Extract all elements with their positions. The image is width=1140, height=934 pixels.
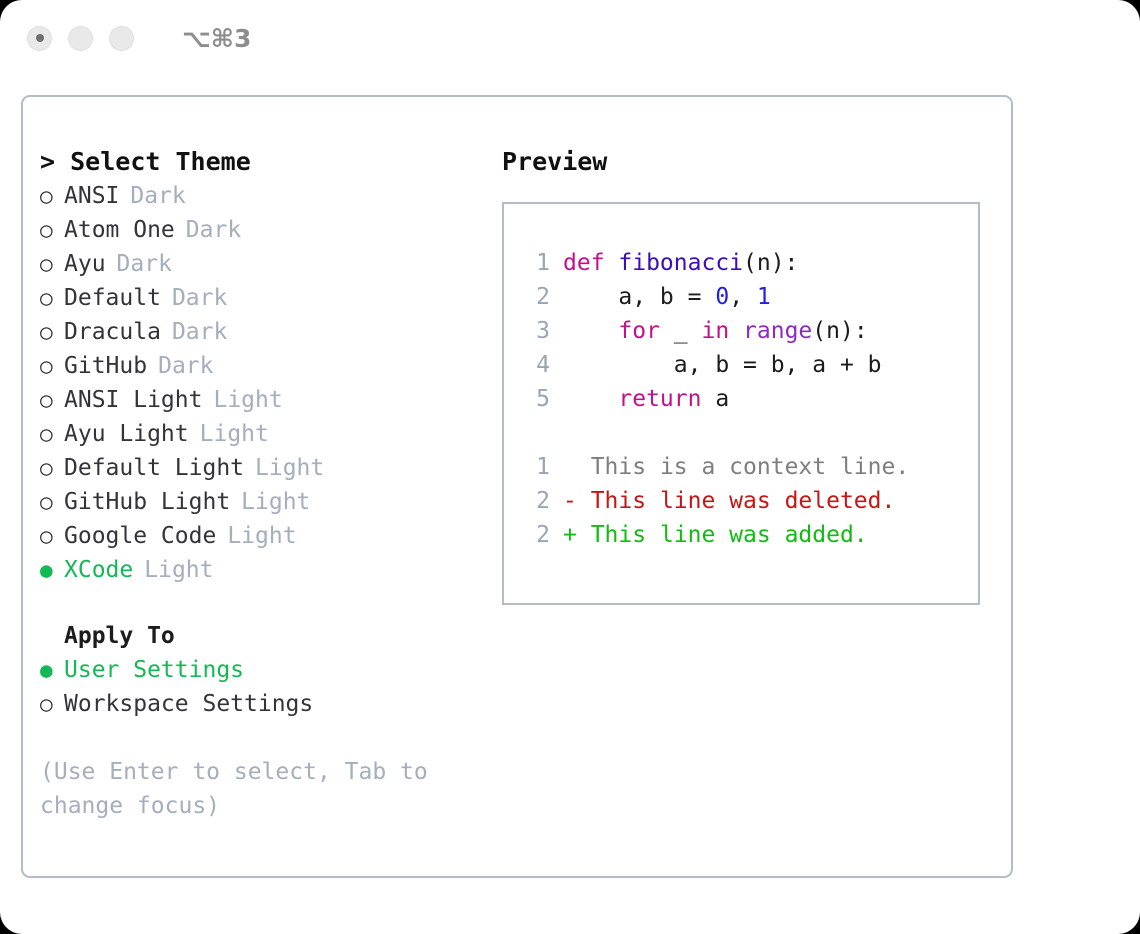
apply-to-option-workspace-settings[interactable]: ○Workspace Settings: [40, 687, 470, 721]
code-token-kw: def: [563, 250, 618, 276]
code-token-kw: for: [618, 318, 660, 344]
theme-option-xcode[interactable]: ●XCodeLight: [40, 553, 470, 587]
code-line-number: 5: [520, 382, 550, 416]
theme-option-label: Ayu: [64, 247, 106, 281]
diff-line-number: 2: [520, 518, 550, 552]
theme-option-label: Default: [64, 281, 161, 315]
code-line: 1def fibonacci(n):: [520, 246, 978, 280]
code-line-number: 3: [520, 314, 550, 348]
radio-unselected-icon: ○: [40, 687, 64, 721]
theme-option-label: ANSI: [64, 179, 119, 213]
theme-option-tag: Dark: [172, 281, 227, 315]
theme-option-label: Atom One: [64, 213, 175, 247]
code-line-content: for _ in range(n):: [563, 314, 868, 348]
theme-option-tag: Dark: [158, 349, 213, 383]
preview-column: Preview 1def fibonacci(n):2 a, b = 0, 13…: [502, 145, 1002, 605]
code-token-kw: return: [618, 386, 701, 412]
theme-option-default-light[interactable]: ○Default LightLight: [40, 451, 470, 485]
keyboard-shortcut-label: ⌥⌘3: [182, 24, 251, 53]
select-theme-heading-label: Select Theme: [70, 147, 251, 176]
apply-to-option-user-settings[interactable]: ●User Settings: [40, 653, 470, 687]
code-diff-separator: [520, 416, 978, 450]
code-token-plain: ,: [729, 284, 757, 310]
code-line: 2 a, b = 0, 1: [520, 280, 978, 314]
radio-unselected-icon: ○: [40, 485, 64, 519]
theme-list: ○ANSIDark○Atom OneDark○AyuDark○DefaultDa…: [40, 179, 470, 587]
theme-option-tag: Light: [255, 451, 324, 485]
title-bar: ⌥⌘3: [0, 0, 1140, 76]
code-line-content: a, b = 0, 1: [563, 280, 771, 314]
code-token-bi: range: [743, 318, 812, 344]
theme-option-label: Google Code: [64, 519, 216, 553]
prompt-caret-icon: >: [40, 147, 55, 176]
code-token-kw: in: [701, 318, 729, 344]
diff-line-text: This line was deleted.: [577, 484, 896, 518]
code-line-content: def fibonacci(n):: [563, 246, 798, 280]
radio-unselected-icon: ○: [40, 179, 64, 213]
theme-option-tag: Dark: [172, 315, 227, 349]
theme-option-ayu[interactable]: ○AyuDark: [40, 247, 470, 281]
theme-option-label: XCode: [64, 553, 133, 587]
code-line-content: return a: [563, 382, 729, 416]
theme-option-ansi[interactable]: ○ANSIDark: [40, 179, 470, 213]
traffic-light-dot-2-icon[interactable]: [68, 26, 93, 51]
theme-option-label: GitHub Light: [64, 485, 230, 519]
traffic-light-record-icon[interactable]: [27, 26, 52, 51]
radio-unselected-icon: ○: [40, 519, 64, 553]
theme-option-label: GitHub: [64, 349, 147, 383]
theme-option-google-code[interactable]: ○Google CodeLight: [40, 519, 470, 553]
theme-option-github[interactable]: ○GitHubDark: [40, 349, 470, 383]
radio-unselected-icon: ○: [40, 315, 64, 349]
radio-unselected-icon: ○: [40, 247, 64, 281]
code-token-plain: _: [660, 318, 702, 344]
code-token-plain: (n):: [743, 250, 798, 276]
code-token-plain: a, b = b, a + b: [563, 352, 882, 378]
theme-option-label: ANSI Light: [64, 383, 202, 417]
preview-box: 1def fibonacci(n):2 a, b = 0, 13 for _ i…: [502, 202, 980, 605]
keyboard-hint-text: (Use Enter to select, Tab to change focu…: [40, 755, 440, 823]
code-line-number: 4: [520, 348, 550, 382]
theme-option-label: Ayu Light: [64, 417, 189, 451]
theme-option-github-light[interactable]: ○GitHub LightLight: [40, 485, 470, 519]
radio-unselected-icon: ○: [40, 451, 64, 485]
code-token-num: 1: [757, 284, 771, 310]
code-line-content: a, b = b, a + b: [563, 348, 882, 382]
code-line: 3 for _ in range(n):: [520, 314, 978, 348]
select-theme-heading: > Select Theme: [40, 145, 470, 179]
app-window: ⌥⌘3 > Select Theme ○ANSIDark○Atom OneDar…: [0, 0, 1140, 934]
radio-unselected-icon: ○: [40, 417, 64, 451]
code-token-num: 0: [715, 284, 729, 310]
theme-option-tag: Dark: [186, 213, 241, 247]
code-token-plain: a: [701, 386, 729, 412]
theme-option-tag: Light: [144, 553, 213, 587]
theme-option-tag: Dark: [117, 247, 172, 281]
code-line: 5 return a: [520, 382, 978, 416]
apply-to-option-label: User Settings: [64, 653, 244, 687]
diff-sign-icon: +: [563, 518, 577, 552]
diff-sample: 1 This is a context line.2- This line wa…: [520, 450, 978, 552]
code-token-plain: [563, 386, 618, 412]
radio-selected-icon: ●: [40, 553, 64, 587]
traffic-light-dot-3-icon[interactable]: [109, 26, 134, 51]
code-sample: 1def fibonacci(n):2 a, b = 0, 13 for _ i…: [520, 246, 978, 416]
diff-line-text: This line was added.: [577, 518, 868, 552]
theme-option-tag: Light: [227, 519, 296, 553]
main-panel: > Select Theme ○ANSIDark○Atom OneDark○Ay…: [21, 95, 1013, 878]
record-dot-inner-icon: [36, 34, 44, 42]
spacer-theme-apply: [40, 587, 470, 619]
theme-option-default[interactable]: ○DefaultDark: [40, 281, 470, 315]
diff-sign-icon: [563, 450, 577, 484]
code-token-plain: a, b =: [563, 284, 715, 310]
theme-picker-column: > Select Theme ○ANSIDark○Atom OneDark○Ay…: [40, 145, 470, 823]
apply-to-list: ●User Settings○Workspace Settings: [40, 653, 470, 721]
preview-heading: Preview: [502, 145, 1002, 179]
radio-unselected-icon: ○: [40, 349, 64, 383]
code-token-plain: [729, 318, 743, 344]
code-line-number: 2: [520, 280, 550, 314]
theme-option-label: Dracula: [64, 315, 161, 349]
theme-option-label: Default Light: [64, 451, 244, 485]
theme-option-tag: Light: [213, 383, 282, 417]
theme-option-tag: Dark: [130, 179, 185, 213]
apply-to-option-label: Workspace Settings: [64, 687, 313, 721]
theme-option-dracula[interactable]: ○DraculaDark: [40, 315, 470, 349]
radio-unselected-icon: ○: [40, 281, 64, 315]
code-token-plain: (n):: [812, 318, 867, 344]
code-token-plain: [563, 318, 618, 344]
apply-to-heading: Apply To: [40, 619, 470, 653]
code-line-number: 1: [520, 246, 550, 280]
theme-option-tag: Light: [241, 485, 310, 519]
code-line: 4 a, b = b, a + b: [520, 348, 978, 382]
diff-sign-icon: -: [563, 484, 577, 518]
diff-line-number: 2: [520, 484, 550, 518]
diff-line-number: 1: [520, 450, 550, 484]
theme-option-ansi-light[interactable]: ○ANSI LightLight: [40, 383, 470, 417]
spacer-apply-hint: [40, 721, 470, 755]
diff-line-ctx: 1 This is a context line.: [520, 450, 978, 484]
radio-selected-icon: ●: [40, 653, 64, 687]
diff-line-text: This is a context line.: [577, 450, 909, 484]
theme-option-ayu-light[interactable]: ○Ayu LightLight: [40, 417, 470, 451]
diff-line-del: 2- This line was deleted.: [520, 484, 978, 518]
radio-unselected-icon: ○: [40, 383, 64, 417]
radio-unselected-icon: ○: [40, 213, 64, 247]
theme-option-tag: Light: [200, 417, 269, 451]
diff-line-add: 2+ This line was added.: [520, 518, 978, 552]
theme-option-atom-one[interactable]: ○Atom OneDark: [40, 213, 470, 247]
code-token-fn: fibonacci: [618, 250, 743, 276]
